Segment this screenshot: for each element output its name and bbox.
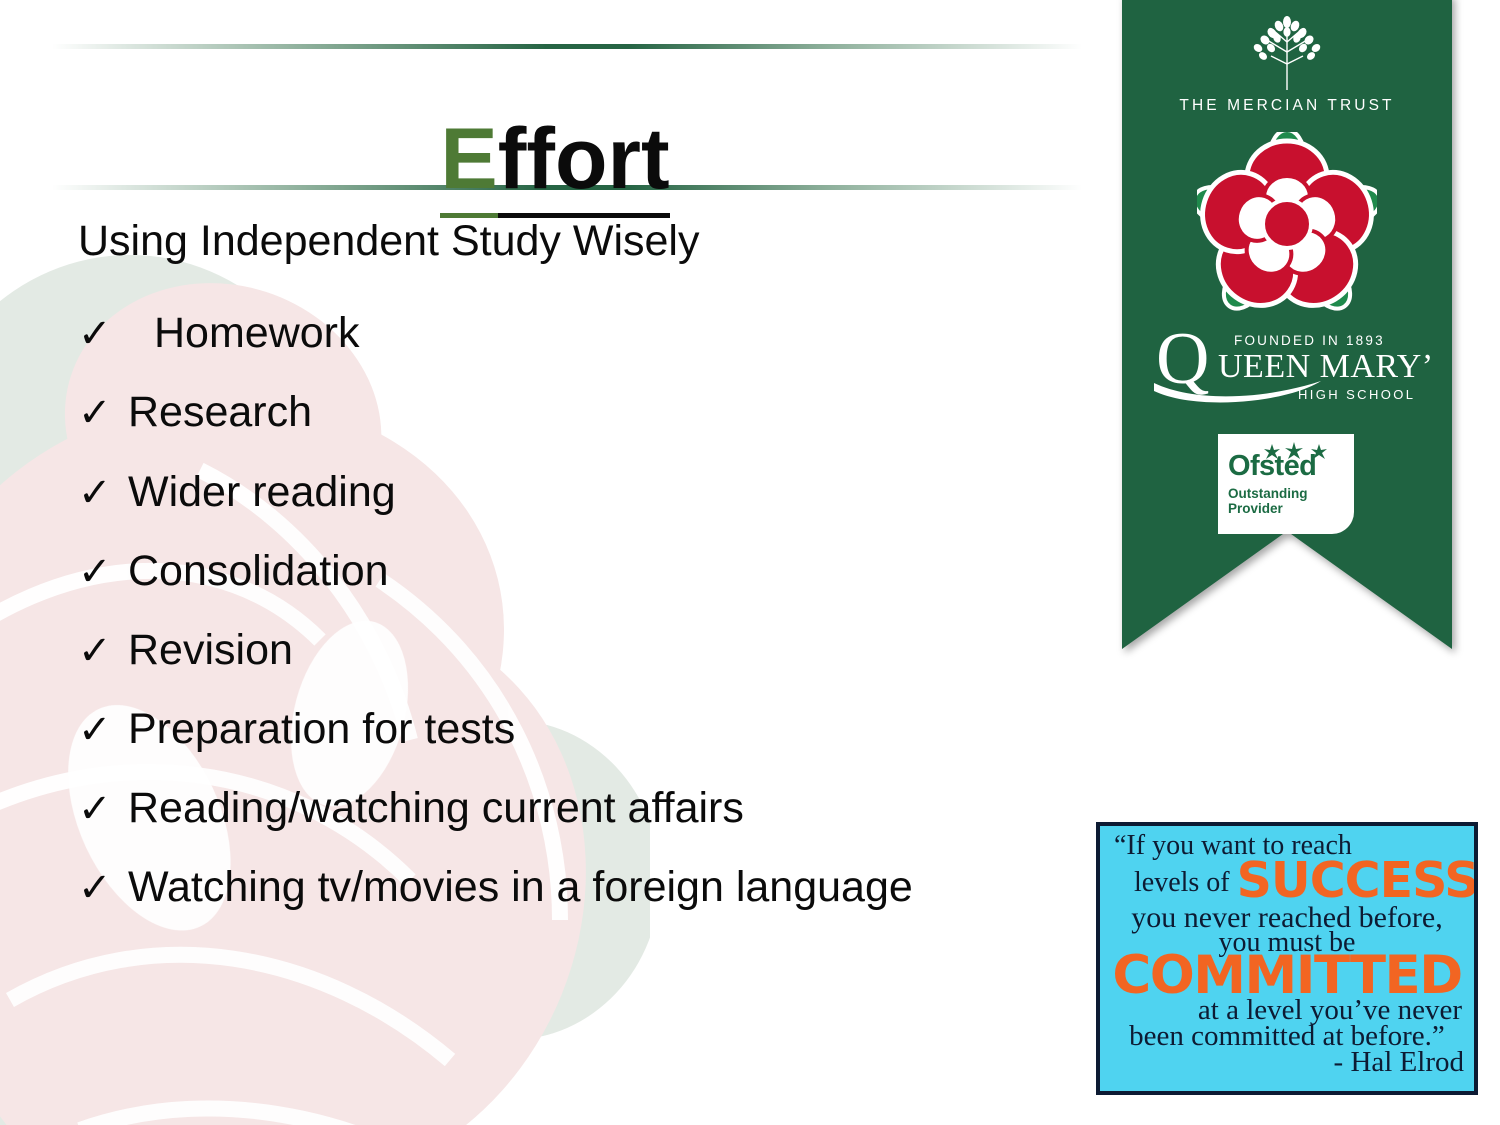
slide-canvas: Effort Using Independent Study Wisely ✓ … (0, 0, 1500, 1125)
list-item: ✓ Reading/watching current affairs (78, 784, 1088, 832)
svg-text:FOUNDED IN 1893: FOUNDED IN 1893 (1234, 333, 1385, 348)
ofsted-rating-line1: Outstanding (1228, 486, 1354, 501)
list-item-label: Homework (128, 309, 1088, 357)
list-item-label: Consolidation (128, 547, 1088, 595)
ofsted-rating-line2: Provider (1228, 501, 1354, 516)
svg-text:HIGH SCHOOL: HIGH SCHOOL (1298, 387, 1415, 402)
page-title: Effort (0, 116, 1110, 202)
ofsted-stars-icon (1264, 442, 1334, 462)
content-body: Using Independent Study Wisely ✓ Homewor… (78, 218, 1088, 943)
list-item-label: Reading/watching current affairs (128, 784, 1088, 832)
checkmark-icon: ✓ (78, 550, 128, 595)
quote-card: “If you want to reach levels of SUCCESS … (1096, 822, 1478, 1095)
list-item: ✓ Preparation for tests (78, 705, 1088, 753)
list-item-label: Wider reading (128, 468, 1088, 516)
checkmark-icon: ✓ (78, 629, 128, 674)
subheading: Using Independent Study Wisely (78, 218, 1088, 265)
list-item: ✓ Watching tv/movies in a foreign langua… (78, 863, 1088, 911)
checkmark-icon: ✓ (78, 391, 128, 436)
ofsted-badge: Ofsted Outstanding Provider (1218, 434, 1354, 534)
list-item: ✓ Consolidation (78, 547, 1088, 595)
tree-icon (1227, 12, 1347, 90)
mercian-trust-logo: THE MERCIAN TRUST (1122, 12, 1452, 115)
list-item: ✓ Revision (78, 626, 1088, 674)
checkmark-icon: ✓ (78, 787, 128, 832)
list-item: ✓ Research (78, 388, 1088, 436)
svg-text:UEEN MARY’S: UEEN MARY’S (1218, 348, 1431, 385)
checkmark-icon: ✓ (78, 866, 128, 911)
list-item: ✓ Wider reading (78, 468, 1088, 516)
list-item-label: Research (128, 388, 1088, 436)
list-item-label: Preparation for tests (128, 705, 1088, 753)
header-divider-top (52, 44, 1082, 49)
quote-attribution: - Hal Elrod (1334, 1046, 1464, 1078)
page-title-initial: E (440, 111, 497, 218)
list-item: ✓ Homework (78, 309, 1088, 357)
queen-marys-logo: Q FOUNDED IN 1893 UEEN MARY’S HIGH SCHOO… (1146, 321, 1431, 406)
tudor-rose-icon (1197, 132, 1377, 317)
page-title-rest: ffort (498, 111, 670, 218)
list-item-label: Revision (128, 626, 1088, 674)
list-item-label: Watching tv/movies in a foreign language (128, 863, 1088, 911)
quote-line-2-prefix: levels of (1134, 867, 1237, 898)
mercian-trust-name: THE MERCIAN TRUST (1122, 97, 1452, 115)
ofsted-rating: Outstanding Provider (1228, 486, 1354, 517)
school-banner: THE MERCIAN TRUST (1122, 0, 1452, 649)
checkmark-icon: ✓ (78, 708, 128, 753)
checkmark-icon: ✓ (78, 471, 128, 516)
checkmark-icon: ✓ (78, 312, 128, 357)
